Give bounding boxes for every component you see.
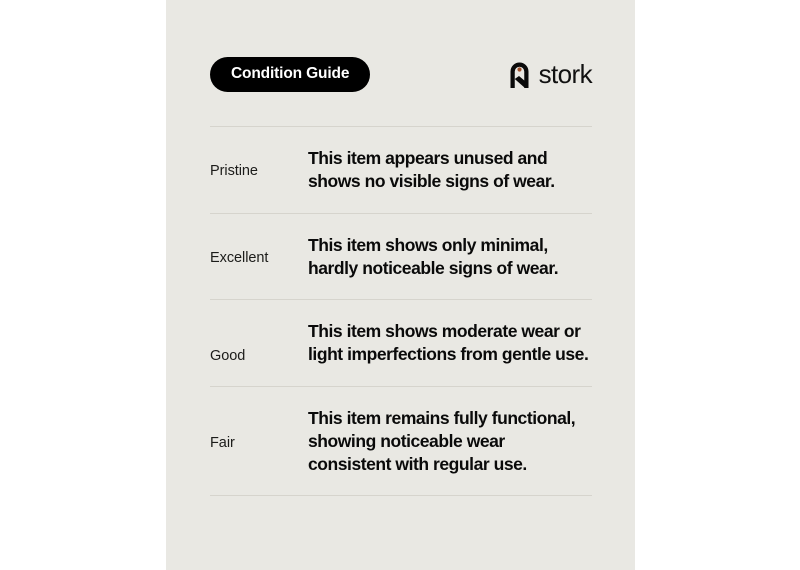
- table-row: Excellent This item shows only minimal, …: [210, 214, 592, 300]
- stork-arch-logo-icon: [507, 59, 532, 89]
- condition-label: Pristine: [210, 147, 308, 182]
- condition-description: This item shows moderate wear or light i…: [308, 320, 592, 367]
- card-header: Condition Guide stork: [210, 56, 592, 92]
- row-divider: [210, 495, 592, 496]
- condition-description: This item shows only minimal, hardly not…: [308, 234, 592, 281]
- condition-description: This item remains fully functional, show…: [308, 407, 592, 477]
- page-root: Condition Guide stork Pristine This item…: [0, 0, 800, 570]
- table-row: Fair This item remains fully functional,…: [210, 387, 592, 496]
- condition-label: Excellent: [210, 234, 308, 269]
- brand-name: stork: [539, 61, 592, 87]
- brand-logo: stork: [507, 59, 592, 89]
- condition-label: Fair: [210, 407, 308, 454]
- condition-guide-badge: Condition Guide: [210, 57, 370, 92]
- condition-description: This item appears unused and shows no vi…: [308, 147, 592, 194]
- condition-guide-table: Pristine This item appears unused and sh…: [210, 126, 592, 496]
- condition-guide-card: Condition Guide stork Pristine This item…: [166, 0, 635, 570]
- table-row: Pristine This item appears unused and sh…: [210, 127, 592, 213]
- table-row: Good This item shows moderate wear or li…: [210, 300, 592, 386]
- condition-label: Good: [210, 320, 308, 367]
